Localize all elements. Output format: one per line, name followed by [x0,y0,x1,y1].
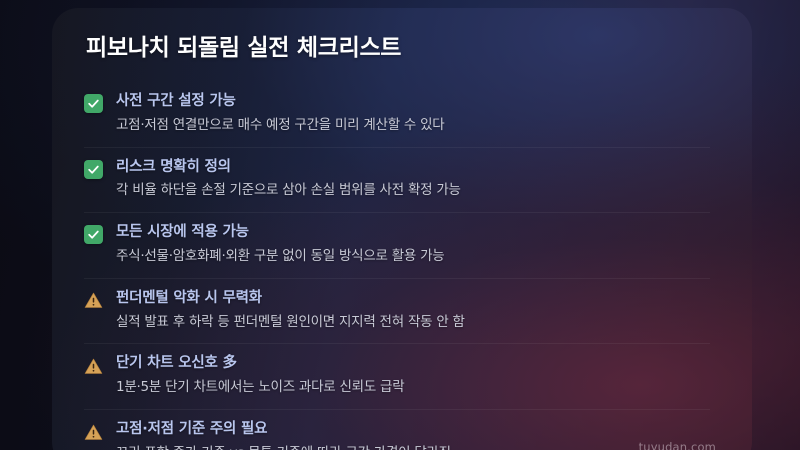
checklist-item-texts: 펀더멘털 악화 시 무력화실적 발표 후 하락 등 펀더멘털 원인이면 지지력 … [116,288,465,334]
checklist-item: 사전 구간 설정 가능고점·저점 연결만으로 매수 예정 구간을 미리 계산할 … [84,82,710,147]
check-badge-icon [84,94,103,113]
checklist-item-title: 사전 구간 설정 가능 [116,91,444,113]
warning-triangle-icon [84,291,103,310]
checklist-item-description: 1분·5분 단기 차트에서는 노이즈 과다로 신뢰도 급락 [116,377,404,399]
checklist-item-texts: 사전 구간 설정 가능고점·저점 연결만으로 매수 예정 구간을 미리 계산할 … [116,91,444,137]
checklist-item-title: 펀더멘털 악화 시 무력화 [116,288,465,310]
checklist-item: 단기 차트 오신호 多1분·5분 단기 차트에서는 노이즈 과다로 신뢰도 급락 [84,343,710,409]
check-badge-icon [84,160,103,179]
warning-triangle-icon [84,422,103,441]
warning-triangle-icon [84,356,103,375]
checklist-item: 모든 시장에 적용 가능주식·선물·암호화폐·외환 구분 없이 동일 방식으로 … [84,212,710,278]
page-title: 피보나치 되돌림 실전 체크리스트 [82,24,710,64]
checklist-item-description: 고점·저점 연결만으로 매수 예정 구간을 미리 계산할 수 있다 [116,115,444,137]
checklist-item-texts: 모든 시장에 적용 가능주식·선물·암호화폐·외환 구분 없이 동일 방식으로 … [116,222,444,268]
checklist-item-description: 각 비율 하단을 손절 기준으로 삼아 손실 범위를 사전 확정 가능 [116,180,461,202]
checklist-item: 펀더멘털 악화 시 무력화실적 발표 후 하락 등 펀더멘털 원인이면 지지력 … [84,278,710,344]
checklist-item-texts: 리스크 명확히 정의각 비율 하단을 손절 기준으로 삼아 손실 범위를 사전 … [116,157,461,203]
checklist-item: 고점·저점 기준 주의 필요꼬리 포함 종가 기준 vs 몸통 기준에 따라 구… [84,409,710,450]
checklist-item-texts: 고점·저점 기준 주의 필요꼬리 포함 종가 기준 vs 몸통 기준에 따라 구… [116,419,451,450]
checklist-item-title: 단기 차트 오신호 多 [116,353,404,375]
checklist-item-description: 꼬리 포함 종가 기준 vs 몸통 기준에 따라 구간 가격이 달라짐 [116,443,451,450]
check-badge-icon [84,225,103,244]
checklist-item-title: 고점·저점 기준 주의 필요 [116,419,451,441]
checklist-item-texts: 단기 차트 오신호 多1분·5분 단기 차트에서는 노이즈 과다로 신뢰도 급락 [116,353,404,399]
checklist-item-description: 주식·선물·암호화폐·외환 구분 없이 동일 방식으로 활용 가능 [116,246,444,268]
checklist-item-title: 리스크 명확히 정의 [116,157,461,179]
watermark: tuyudan.com [639,440,716,450]
checklist-item: 리스크 명확히 정의각 비율 하단을 손절 기준으로 삼아 손실 범위를 사전 … [84,147,710,213]
checklist-list: 사전 구간 설정 가능고점·저점 연결만으로 매수 예정 구간을 미리 계산할 … [82,82,710,450]
checklist-item-description: 실적 발표 후 하락 등 펀더멘털 원인이면 지지력 전혀 작동 안 함 [116,312,465,334]
checklist-card: 피보나치 되돌림 실전 체크리스트 사전 구간 설정 가능고점·저점 연결만으로… [52,8,752,450]
checklist-item-title: 모든 시장에 적용 가능 [116,222,444,244]
